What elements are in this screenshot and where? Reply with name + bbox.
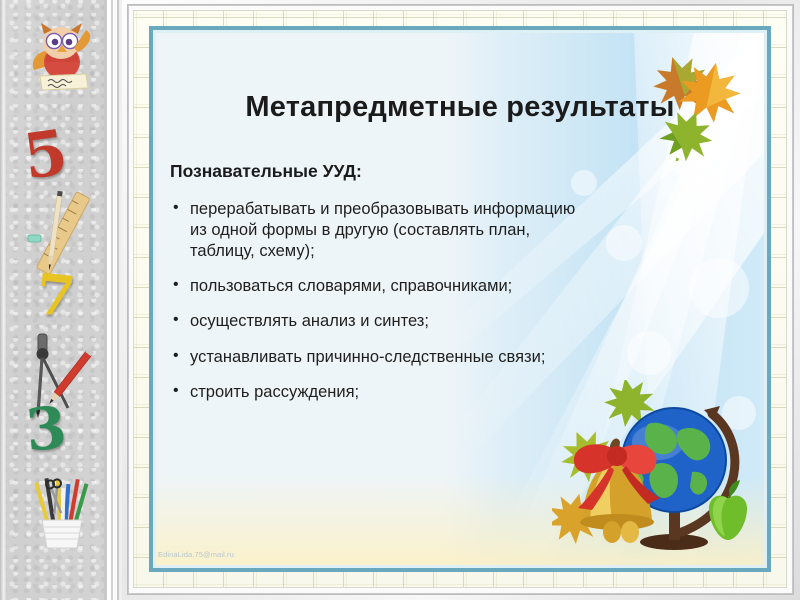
list-item: осуществлять анализ и синтез;: [170, 311, 590, 332]
bullet-list: перерабатывать и преобразовывать информа…: [170, 199, 590, 417]
watermark-email: EdinaLida.75@mail.ru: [158, 550, 234, 559]
owl-teacher-icon: [26, 18, 98, 96]
list-item: перерабатывать и преобразовывать информа…: [170, 199, 590, 262]
sidebar-number-3: 3: [24, 398, 69, 459]
sidebar-left-edge: [0, 0, 6, 600]
list-item: пользоваться словарями, справочниками;: [170, 276, 590, 297]
page-title: Метапредметные результаты: [156, 91, 764, 124]
presentation-slide-screen: 5: [0, 0, 800, 600]
list-item: устанавливать причинно-следственные связ…: [170, 347, 590, 368]
sidebar-number-5: 5: [20, 121, 71, 188]
decorative-sidebar: 5: [0, 0, 122, 600]
list-item: строить рассуждения;: [170, 382, 590, 403]
pencil-cup-icon: [26, 470, 98, 550]
slide-content: Метапредметные результаты Познавательные…: [156, 33, 764, 565]
section-subtitle: Познавательные УУД:: [170, 161, 362, 182]
sidebar-right-edge: [104, 0, 122, 600]
sidebar-number-7: 7: [33, 266, 78, 326]
